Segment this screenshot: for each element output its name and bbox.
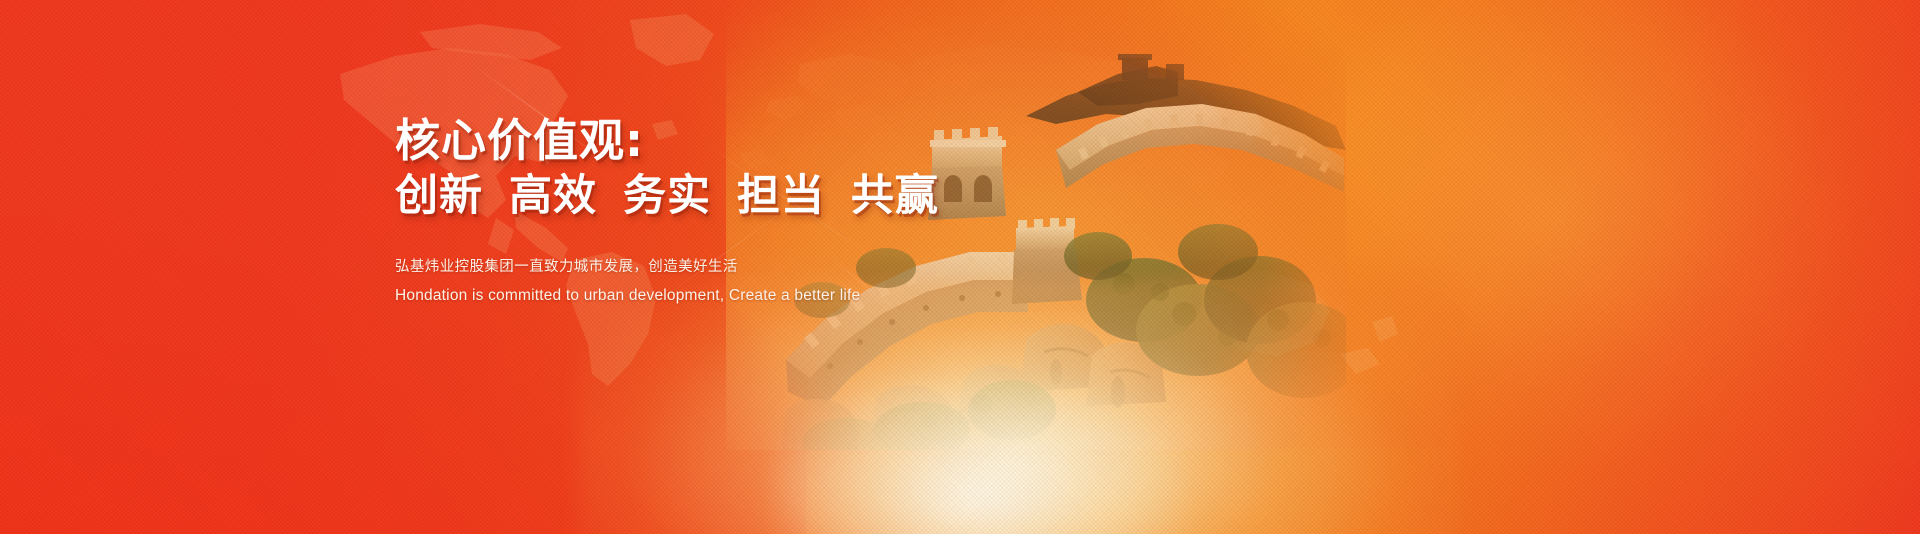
background-bloom-core	[768, 374, 1190, 534]
banner-headline-primary: 核心价值观:	[395, 118, 1155, 163]
banner-copy-block: 核心价值观: 创新 高效 务实 担当 共赢 弘基炜业控股集团一直致力城市发展，创…	[395, 118, 1155, 308]
banner-subtitle-english: Hondation is committed to urban developm…	[395, 284, 1155, 307]
banner-headline-secondary: 创新 高效 务实 担当 共赢	[395, 175, 1155, 218]
banner-subtitle-block: 弘基炜业控股集团一直致力城市发展，创造美好生活 Hondation is com…	[395, 256, 1155, 308]
hero-banner: 核心价值观: 创新 高效 务实 担当 共赢 弘基炜业控股集团一直致力城市发展，创…	[0, 0, 1920, 534]
banner-subtitle-chinese: 弘基炜业控股集团一直致力城市发展，创造美好生活	[395, 256, 1155, 278]
